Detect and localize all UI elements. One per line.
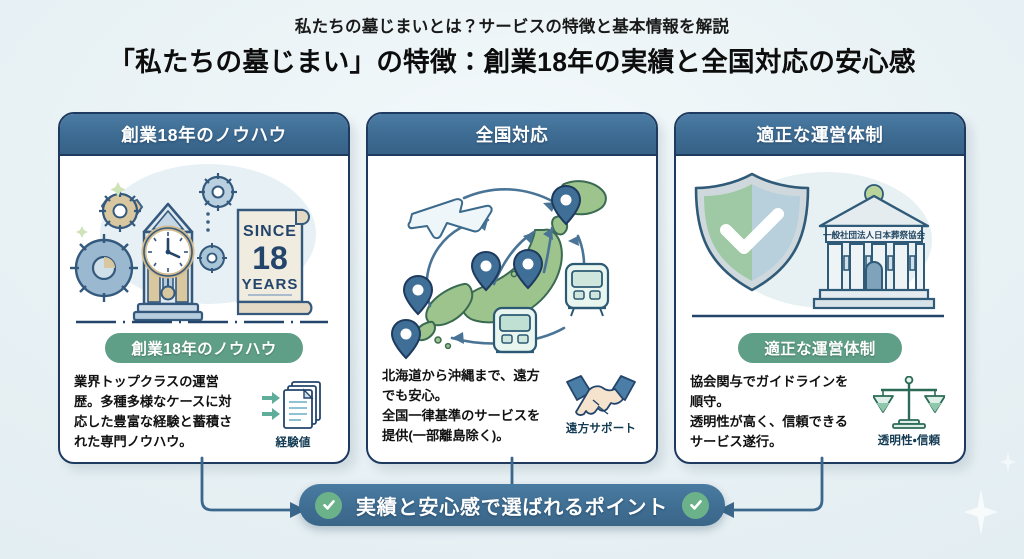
card-nationwide-header-title: 全国対応 [476,122,548,147]
card-governance-header: 適正な運営体制 [676,114,964,156]
card-nationwide-header: 全国対応 [368,114,656,156]
scales-balance-icon [873,376,945,430]
card-governance-aside-caption: 透明性・信頼 [878,432,941,448]
card-experience-aside-caption: 経験値 [275,434,310,450]
svg-text:YEARS: YEARS [242,276,299,293]
svg-text:SINCE: SINCE [243,223,297,240]
building-sign-text: 一般社団法人日本葬祭協会 [823,230,926,240]
card-experience-illustration: SINCE 18 YEARS [60,156,348,328]
sparkle-decoration [964,489,998,535]
card-experience-header: 創業18年のノウハウ [60,114,348,156]
documents-icon [262,376,324,432]
card-governance-illustration: 一般社団法人日本葬祭協会 [676,156,964,328]
card-governance-header-title: 適正な運営体制 [757,122,884,147]
header-eyebrow: 私たちの墓じまいとは？サービスの特徴と基本情報を解説 [0,18,1024,38]
summary-banner-text: 実績と安心感で選ばれるポイント [356,491,668,520]
header: 私たちの墓じまいとは？サービスの特徴と基本情報を解説 「私たちの墓じまい」の特徴… [0,18,1024,79]
card-nationwide-aside-caption: 遠方サポート [566,420,636,436]
card-experience-pill-wrap: 創業18年のノウハウ [60,328,348,368]
card-nationwide-description: 北海道から沖縄まで、遠方でも安心。 全国一律基準のサービスを提供(一部離島除く)… [382,366,552,446]
card-governance-aside: 透明性・信頼 [866,372,952,448]
check-circle-icon-left [315,492,342,519]
card-experience-pill: 創業18年のノウハウ [105,333,302,363]
infographic-canvas: 私たちの墓じまいとは？サービスの特徴と基本情報を解説 「私たちの墓じまい」の特徴… [0,0,1024,559]
card-experience-header-title: 創業18年のノウハウ [121,122,286,147]
card-experience-description: 業界トップクラスの運営歴。多種多様なケースに対応した豊富な経験と蓄積された専門ノ… [74,372,244,452]
handshake-icon [563,370,639,418]
card-experience: 創業18年のノウハウ [58,112,350,464]
card-governance-pill: 適正な運営体制 [738,333,901,363]
card-nationwide: 全国対応 [366,112,658,464]
check-circle-icon-right [682,492,709,519]
svg-text:18: 18 [252,240,288,276]
card-nationwide-illustration [368,156,656,362]
card-experience-aside: 経験値 [250,372,336,450]
card-governance-pill-wrap: 適正な運営体制 [676,328,964,368]
summary-banner: 実績と安心感で選ばれるポイント [299,484,725,526]
card-nationwide-body: 北海道から沖縄まで、遠方でも安心。 全国一律基準のサービスを提供(一部離島除く)… [368,362,656,462]
page-title: 「私たちの墓じまい」の特徴：創業18年の実績と全国対応の安心感 [0,47,1024,79]
card-governance-body: 協会関与でガイドラインを順守。 透明性が高く、信頼できるサービス遂行。 [676,368,964,462]
card-governance-description: 協会関与でガイドラインを順守。 透明性が高く、信頼できるサービス遂行。 [690,372,860,452]
card-experience-body: 業界トップクラスの運営歴。多種多様なケースに対応した豊富な経験と蓄積された専門ノ… [60,368,348,462]
feature-cards: 創業18年のノウハウ [58,112,966,464]
card-nationwide-aside: 遠方サポート [558,366,644,436]
card-governance: 適正な運営体制 [674,112,966,464]
sparkle-decoration-small [1000,451,1016,473]
